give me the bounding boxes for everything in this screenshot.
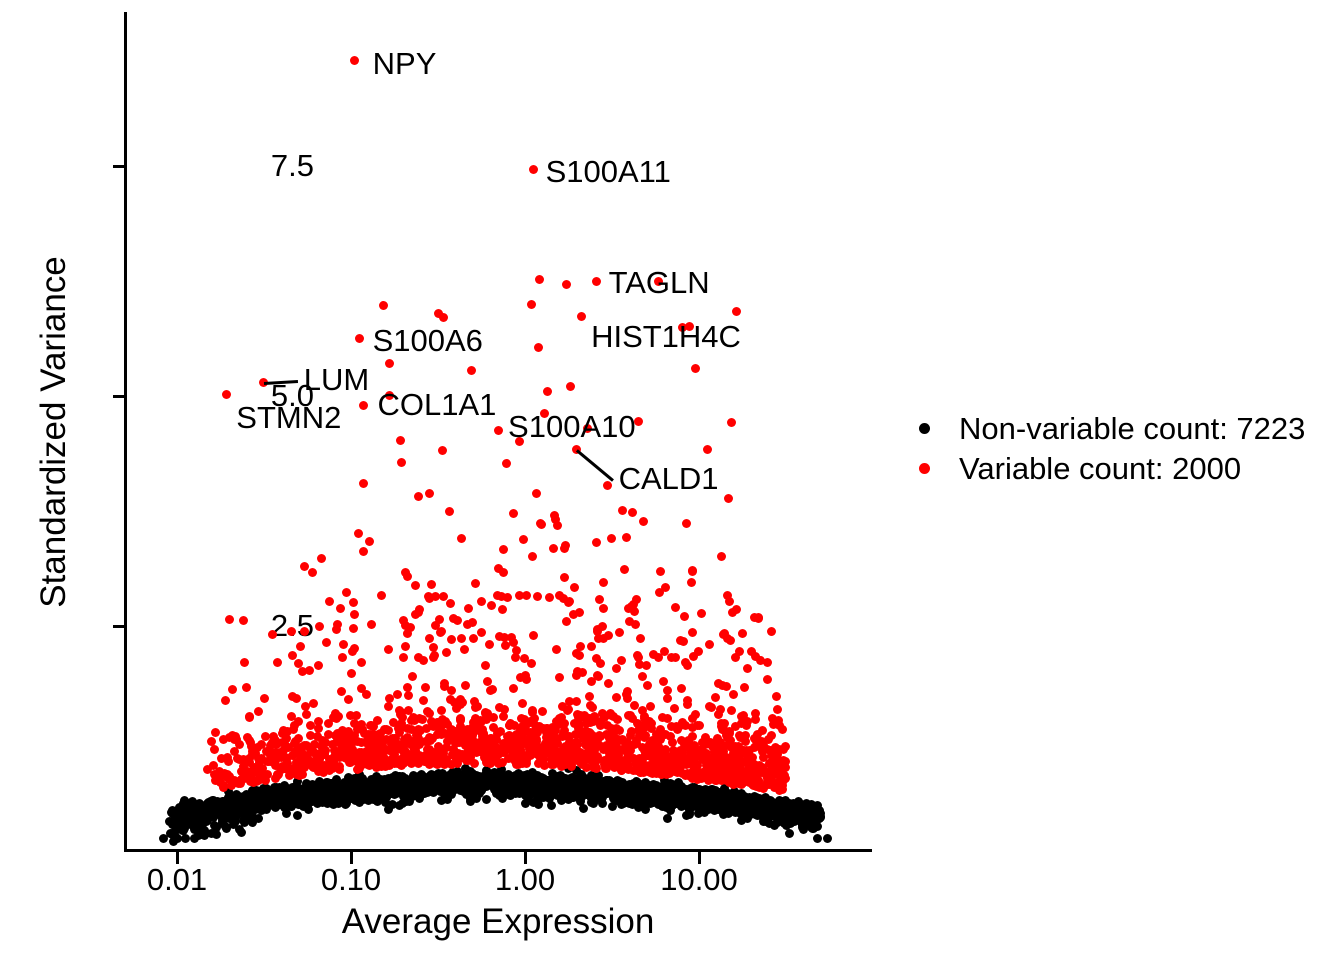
data-point-non-variable <box>521 781 530 790</box>
data-point-non-variable <box>350 783 359 792</box>
data-point-variable <box>329 713 338 722</box>
data-point-non-variable <box>801 814 810 823</box>
data-point-variable <box>590 712 599 721</box>
data-point-non-variable <box>340 792 349 801</box>
data-point-non-variable <box>603 781 612 790</box>
data-point-variable <box>636 768 645 777</box>
data-point-variable <box>230 735 239 744</box>
data-point-non-variable <box>699 801 708 810</box>
data-point-variable <box>393 690 402 699</box>
data-point-non-variable <box>815 806 824 815</box>
data-point-non-variable <box>773 814 782 823</box>
data-point-variable <box>607 750 616 759</box>
data-point-non-variable <box>280 793 289 802</box>
data-point-variable <box>764 735 773 744</box>
data-point-non-variable <box>736 797 745 806</box>
data-point-variable <box>585 692 594 701</box>
data-point-variable <box>505 721 514 730</box>
data-point-non-variable <box>398 789 407 798</box>
data-point-variable <box>779 745 788 754</box>
data-point-variable <box>440 679 449 688</box>
data-point-variable <box>429 748 438 757</box>
data-point-non-variable <box>696 794 705 803</box>
data-point-non-variable <box>669 800 678 809</box>
data-point-non-variable <box>791 801 800 810</box>
data-point-variable <box>368 741 377 750</box>
data-point-variable <box>569 754 578 763</box>
data-point-non-variable <box>188 803 197 812</box>
data-point-variable <box>734 769 743 778</box>
data-point-non-variable <box>715 795 724 804</box>
data-point-variable <box>463 739 472 748</box>
data-point-variable <box>649 755 658 764</box>
data-point-variable <box>335 765 344 774</box>
data-point-variable <box>306 745 315 754</box>
data-point-variable <box>771 767 780 776</box>
data-point-variable <box>516 740 525 749</box>
data-point-non-variable <box>733 790 742 799</box>
data-point-non-variable <box>303 786 312 795</box>
data-point-non-variable <box>795 801 804 810</box>
data-point-variable <box>510 741 519 750</box>
data-point-variable <box>277 753 286 762</box>
data-point-labelled-npy <box>350 56 359 65</box>
data-point-non-variable <box>726 791 735 800</box>
data-point-non-variable <box>363 781 372 790</box>
data-point-non-variable <box>816 813 825 822</box>
data-point-variable <box>593 752 602 761</box>
data-point-variable <box>479 729 488 738</box>
data-point-variable <box>601 760 610 769</box>
data-point-non-variable <box>773 811 782 820</box>
data-point-non-variable <box>609 794 618 803</box>
data-point-variable <box>682 519 691 528</box>
data-point-variable <box>380 759 389 768</box>
data-point-non-variable <box>355 775 364 784</box>
data-point-non-variable <box>583 782 592 791</box>
data-point-non-variable <box>762 804 771 813</box>
data-point-non-variable <box>691 788 700 797</box>
data-point-non-variable <box>166 829 175 838</box>
data-point-non-variable <box>572 779 581 788</box>
data-point-non-variable <box>584 783 593 792</box>
data-point-variable <box>655 751 664 760</box>
data-point-non-variable <box>416 786 425 795</box>
data-point-non-variable <box>634 780 643 789</box>
data-point-non-variable <box>598 780 607 789</box>
data-point-non-variable <box>761 807 770 816</box>
data-point-variable <box>775 777 784 786</box>
data-point-non-variable <box>443 782 452 791</box>
data-point-variable <box>330 752 339 761</box>
data-point-non-variable <box>699 806 708 815</box>
data-point-non-variable <box>178 826 187 835</box>
data-point-variable <box>646 763 655 772</box>
data-point-variable <box>292 770 301 779</box>
data-point-non-variable <box>291 791 300 800</box>
data-point-non-variable <box>492 778 501 787</box>
data-point-variable <box>312 762 321 771</box>
data-point-non-variable <box>778 807 787 816</box>
data-point-variable <box>246 768 255 777</box>
data-point-non-variable <box>346 778 355 787</box>
data-point-variable <box>407 716 416 725</box>
data-point-non-variable <box>436 787 445 796</box>
data-point-non-variable <box>421 786 430 795</box>
data-point-variable <box>447 760 456 769</box>
data-point-variable <box>497 592 506 601</box>
data-point-variable <box>282 755 291 764</box>
data-point-non-variable <box>466 772 475 781</box>
data-point-variable <box>520 715 529 724</box>
data-point-variable <box>262 747 271 756</box>
data-point-non-variable <box>597 795 606 804</box>
data-point-variable <box>645 717 654 726</box>
data-point-non-variable <box>225 804 234 813</box>
data-point-non-variable <box>395 772 404 781</box>
data-point-non-variable <box>378 777 387 786</box>
data-point-non-variable <box>724 804 733 813</box>
data-point-labelled-s100a10 <box>494 426 503 435</box>
data-point-variable <box>634 726 643 735</box>
data-point-variable <box>711 776 720 785</box>
data-point-non-variable <box>188 815 197 824</box>
data-point-non-variable <box>325 783 334 792</box>
data-point-non-variable <box>663 814 672 823</box>
data-point-variable <box>737 774 746 783</box>
data-point-variable <box>607 748 616 757</box>
data-point-non-variable <box>546 776 555 785</box>
data-point-non-variable <box>531 771 540 780</box>
data-point-non-variable <box>582 790 591 799</box>
data-point-non-variable <box>285 793 294 802</box>
data-point-variable <box>308 568 317 577</box>
data-point-non-variable <box>327 779 336 788</box>
data-point-non-variable <box>413 775 422 784</box>
data-point-non-variable <box>766 796 775 805</box>
data-point-non-variable <box>416 779 425 788</box>
data-point-variable <box>705 774 714 783</box>
data-point-non-variable <box>224 794 233 803</box>
data-point-variable <box>433 718 442 727</box>
data-point-non-variable <box>409 781 418 790</box>
data-point-non-variable <box>272 783 281 792</box>
data-point-variable <box>414 734 423 743</box>
data-point-non-variable <box>281 796 290 805</box>
data-point-non-variable <box>326 790 335 799</box>
data-point-variable <box>469 718 478 727</box>
data-point-non-variable <box>324 790 333 799</box>
data-point-non-variable <box>760 798 769 807</box>
data-point-non-variable <box>597 778 606 787</box>
data-point-non-variable <box>417 778 426 787</box>
data-point-non-variable <box>198 819 207 828</box>
data-point-non-variable <box>682 801 691 810</box>
data-point-variable <box>775 721 784 730</box>
data-point-non-variable <box>229 820 238 829</box>
data-point-non-variable <box>726 794 735 803</box>
data-point-variable <box>386 745 395 754</box>
data-point-non-variable <box>612 796 621 805</box>
data-point-non-variable <box>470 771 479 780</box>
data-point-variable <box>672 722 681 731</box>
data-point-non-variable <box>790 807 799 816</box>
data-point-variable <box>706 774 715 783</box>
data-point-non-variable <box>542 779 551 788</box>
data-point-non-variable <box>696 792 705 801</box>
data-point-variable <box>477 597 486 606</box>
data-point-non-variable <box>290 798 299 807</box>
data-point-non-variable <box>494 783 503 792</box>
data-point-non-variable <box>469 777 478 786</box>
data-point-non-variable <box>453 767 462 776</box>
data-point-variable <box>411 610 420 619</box>
data-point-variable <box>294 659 303 668</box>
data-point-variable <box>460 645 469 654</box>
data-point-non-variable <box>355 780 364 789</box>
data-point-non-variable <box>725 798 734 807</box>
data-point-non-variable <box>341 800 350 809</box>
data-point-non-variable <box>594 780 603 789</box>
data-point-non-variable <box>522 774 531 783</box>
data-point-variable <box>455 754 464 763</box>
data-point-non-variable <box>507 781 516 790</box>
data-point-non-variable <box>605 788 614 797</box>
data-point-variable <box>731 774 740 783</box>
data-point-non-variable <box>458 771 467 780</box>
data-point-variable <box>466 747 475 756</box>
data-point-variable <box>659 753 668 762</box>
data-point-non-variable <box>790 809 799 818</box>
data-point-non-variable <box>580 779 589 788</box>
data-point-variable <box>560 758 569 767</box>
data-point-non-variable <box>810 807 819 816</box>
data-point-non-variable <box>808 816 817 825</box>
data-point-variable <box>708 755 717 764</box>
data-point-variable <box>491 748 500 757</box>
data-point-non-variable <box>797 818 806 827</box>
data-point-non-variable <box>378 790 387 799</box>
data-point-variable <box>753 766 762 775</box>
data-point-non-variable <box>379 780 388 789</box>
data-point-non-variable <box>639 792 648 801</box>
data-point-non-variable <box>669 787 678 796</box>
data-point-non-variable <box>733 797 742 806</box>
data-point-variable <box>527 300 536 309</box>
data-point-non-variable <box>724 806 733 815</box>
data-point-variable <box>628 508 637 517</box>
data-point-variable <box>725 776 734 785</box>
data-point-non-variable <box>733 799 742 808</box>
data-point-variable <box>473 746 482 755</box>
data-point-variable <box>636 768 645 777</box>
data-point-non-variable <box>293 790 302 799</box>
data-point-variable <box>468 618 477 627</box>
data-point-variable <box>632 736 641 745</box>
data-point-non-variable <box>570 780 579 789</box>
data-point-non-variable <box>515 789 524 798</box>
data-point-non-variable <box>582 785 591 794</box>
data-point-variable <box>570 754 579 763</box>
data-point-non-variable <box>527 776 536 785</box>
data-point-variable <box>346 753 355 762</box>
data-point-non-variable <box>798 809 807 818</box>
data-point-non-variable <box>806 805 815 814</box>
data-point-variable <box>463 736 472 745</box>
data-point-variable <box>537 758 546 767</box>
data-point-non-variable <box>671 788 680 797</box>
data-point-variable <box>507 633 516 642</box>
data-point-variable <box>589 762 598 771</box>
data-point-non-variable <box>196 810 205 819</box>
data-point-non-variable <box>447 775 456 784</box>
data-point-variable <box>555 759 564 768</box>
data-point-non-variable <box>642 792 651 801</box>
data-point-non-variable <box>758 809 767 818</box>
data-point-non-variable <box>480 777 489 786</box>
data-point-non-variable <box>695 785 704 794</box>
data-point-variable <box>532 748 541 757</box>
data-point-variable <box>486 741 495 750</box>
data-point-non-variable <box>407 782 416 791</box>
data-point-variable <box>314 717 323 726</box>
data-point-non-variable <box>700 808 709 817</box>
data-point-non-variable <box>328 784 337 793</box>
data-point-variable <box>454 733 463 742</box>
data-point-variable <box>606 753 615 762</box>
data-point-non-variable <box>758 810 767 819</box>
data-point-variable <box>325 597 334 606</box>
data-point-variable <box>246 777 255 786</box>
data-point-non-variable <box>486 774 495 783</box>
data-point-variable <box>320 749 329 758</box>
data-point-non-variable <box>746 797 755 806</box>
data-point-variable <box>678 718 687 727</box>
data-point-variable <box>704 772 713 781</box>
data-point-non-variable <box>781 802 790 811</box>
data-point-non-variable <box>451 777 460 786</box>
data-point-non-variable <box>747 808 756 817</box>
data-point-variable <box>681 721 690 730</box>
data-point-variable <box>549 754 558 763</box>
data-point-non-variable <box>346 784 355 793</box>
data-point-labelled-s100a11 <box>529 165 538 174</box>
data-point-variable <box>250 764 259 773</box>
data-point-non-variable <box>770 806 779 815</box>
data-point-non-variable <box>576 777 585 786</box>
data-point-variable <box>648 752 657 761</box>
data-point-non-variable <box>745 800 754 809</box>
data-point-variable <box>720 629 729 638</box>
data-point-non-variable <box>177 806 186 815</box>
data-point-non-variable <box>602 780 611 789</box>
data-point-non-variable <box>470 792 479 801</box>
data-point-non-variable <box>528 780 537 789</box>
data-point-non-variable <box>784 812 793 821</box>
data-point-non-variable <box>803 812 812 821</box>
data-point-variable <box>779 776 788 785</box>
data-point-variable <box>470 721 479 730</box>
gene-label-cald1: CALD1 <box>619 463 719 494</box>
data-point-non-variable <box>746 798 755 807</box>
data-point-non-variable <box>442 781 451 790</box>
data-point-non-variable <box>407 775 416 784</box>
data-point-non-variable <box>511 775 520 784</box>
data-point-non-variable <box>671 783 680 792</box>
data-point-variable <box>382 725 391 734</box>
data-point-non-variable <box>699 786 708 795</box>
data-point-non-variable <box>696 795 705 804</box>
data-point-non-variable <box>525 772 534 781</box>
data-point-non-variable <box>815 810 824 819</box>
data-point-variable <box>705 702 714 711</box>
data-point-non-variable <box>514 788 523 797</box>
data-point-non-variable <box>718 796 727 805</box>
data-point-non-variable <box>787 805 796 814</box>
data-point-variable <box>542 733 551 742</box>
data-point-non-variable <box>388 780 397 789</box>
data-point-non-variable <box>771 799 780 808</box>
data-point-non-variable <box>218 797 227 806</box>
data-point-variable <box>279 726 288 735</box>
data-point-non-variable <box>344 773 353 782</box>
data-point-variable <box>676 767 685 776</box>
data-point-variable <box>486 753 495 762</box>
data-point-non-variable <box>559 776 568 785</box>
data-point-non-variable <box>754 802 763 811</box>
legend-item-variable[interactable]: Variable count: 2000 <box>905 448 1305 488</box>
data-point-non-variable <box>793 805 802 814</box>
data-point-non-variable <box>568 775 577 784</box>
data-point-variable <box>565 751 574 760</box>
data-point-variable <box>767 731 776 740</box>
data-point-variable <box>742 756 751 765</box>
data-point-non-variable <box>386 789 395 798</box>
data-point-non-variable <box>280 794 289 803</box>
data-point-variable <box>624 741 633 750</box>
data-point-variable <box>560 726 569 735</box>
data-point-non-variable <box>799 805 808 814</box>
data-point-variable <box>682 742 691 751</box>
legend-item-non-variable[interactable]: Non-variable count: 7223 <box>905 408 1305 448</box>
data-point-variable <box>711 693 720 702</box>
data-point-variable <box>432 759 441 768</box>
data-point-variable <box>750 734 759 743</box>
data-point-variable <box>767 627 776 636</box>
data-point-variable <box>561 755 570 764</box>
data-point-variable <box>450 698 459 707</box>
data-point-variable <box>394 740 403 749</box>
data-point-non-variable <box>806 810 815 819</box>
data-point-variable <box>477 717 486 726</box>
data-point-variable <box>414 759 423 768</box>
data-point-variable <box>414 728 423 737</box>
data-point-variable <box>711 771 720 780</box>
data-point-non-variable <box>360 782 369 791</box>
data-point-non-variable <box>233 803 242 812</box>
data-point-non-variable <box>521 781 530 790</box>
data-point-variable <box>434 309 443 318</box>
data-point-non-variable <box>178 803 187 812</box>
data-point-variable <box>516 725 525 734</box>
data-point-non-variable <box>705 790 714 799</box>
data-point-non-variable <box>351 790 360 799</box>
data-point-non-variable <box>323 795 332 804</box>
data-point-variable <box>667 653 676 662</box>
data-point-variable <box>534 747 543 756</box>
data-point-non-variable <box>753 797 762 806</box>
data-point-non-variable <box>560 786 569 795</box>
